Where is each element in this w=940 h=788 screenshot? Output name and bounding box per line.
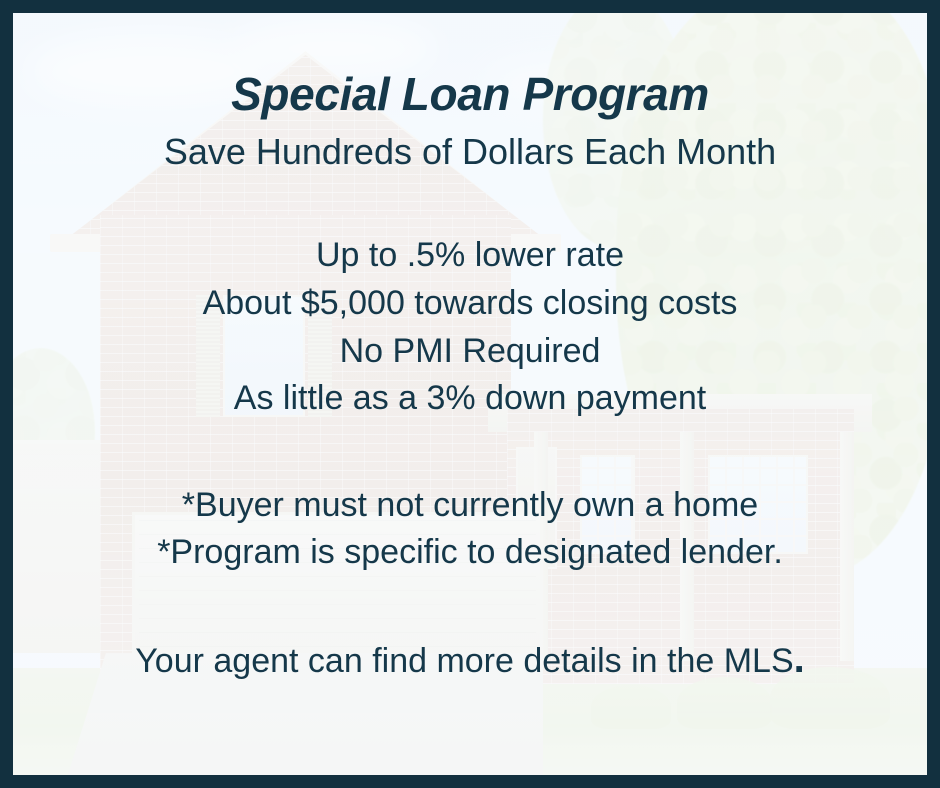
loan-program-flyer: Special Loan Program Save Hundreds of Do… [0, 0, 940, 788]
flyer-title: Special Loan Program [231, 71, 709, 117]
flyer-subtitle: Save Hundreds of Dollars Each Month [164, 133, 776, 171]
flyer-content: Special Loan Program Save Hundreds of Do… [13, 13, 927, 775]
benefit-item: About $5,000 towards closing costs [203, 281, 738, 326]
mls-footer-text: Your agent can find more details in the … [135, 642, 793, 680]
mls-footer-period: . [794, 637, 805, 681]
benefit-item: No PMI Required [340, 329, 601, 374]
mls-footer-note: Your agent can find more details in the … [135, 633, 805, 685]
benefits-list: Up to .5% lower rate About $5,000 toward… [203, 233, 738, 422]
disclaimer-list: *Buyer must not currently own a home *Pr… [157, 483, 783, 575]
disclaimer-item: *Program is specific to designated lende… [157, 530, 783, 575]
disclaimer-item: *Buyer must not currently own a home [182, 483, 758, 528]
benefit-item: Up to .5% lower rate [316, 233, 624, 278]
flyer-canvas: Special Loan Program Save Hundreds of Do… [13, 13, 927, 775]
benefit-item: As little as a 3% down payment [234, 376, 706, 421]
